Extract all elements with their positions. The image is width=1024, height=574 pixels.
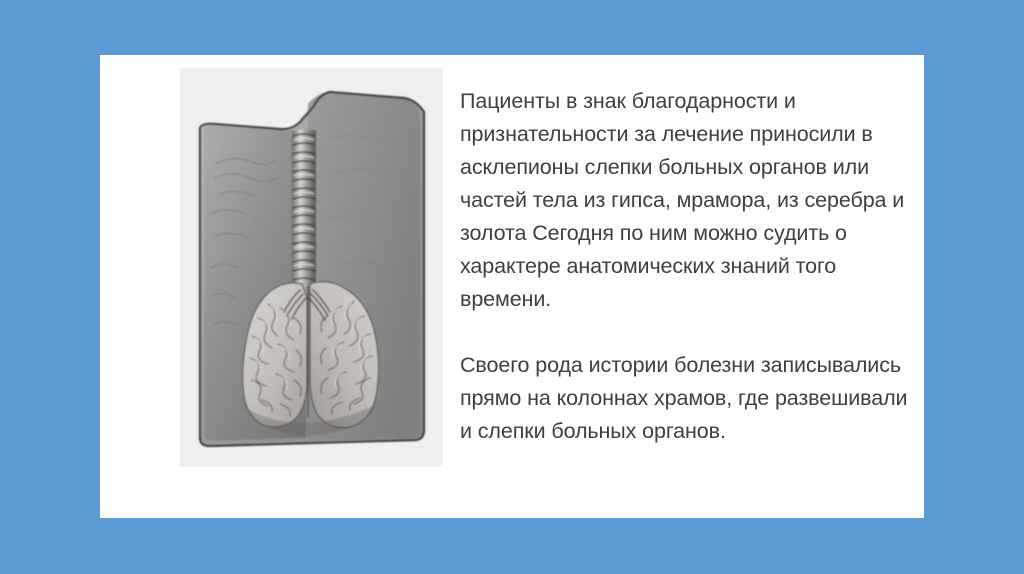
content-card: Пациенты в знак благодарности и признате… xyxy=(100,55,924,518)
text-column: Пациенты в знак благодарности и признате… xyxy=(460,85,910,448)
votive-lung-relief-graphic xyxy=(180,68,443,467)
body-paragraph-2: Своего рода истории болезни записывались… xyxy=(460,349,910,448)
slide-root: Пациенты в знак благодарности и признате… xyxy=(0,0,1024,574)
paragraph-spacer xyxy=(460,316,910,349)
votive-lung-relief-image xyxy=(180,68,443,467)
body-paragraph-1: Пациенты в знак благодарности и признате… xyxy=(460,85,910,316)
